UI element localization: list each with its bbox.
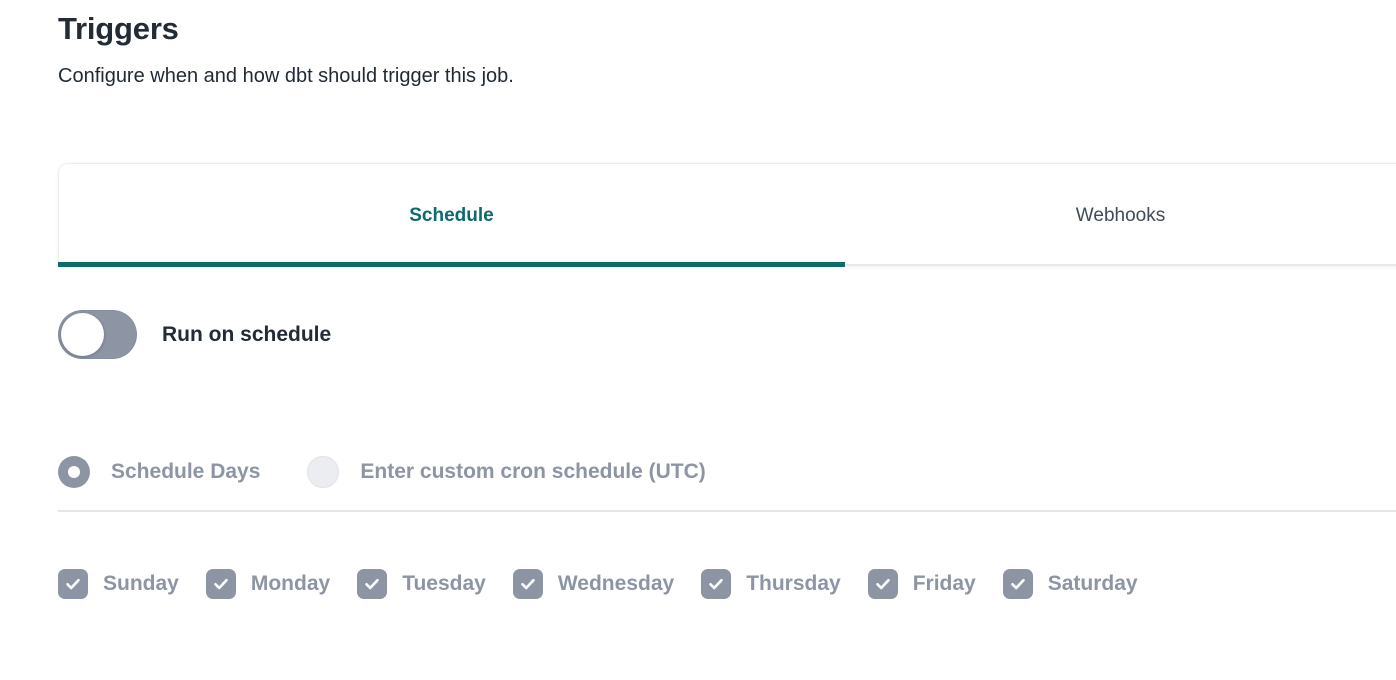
page-title: Triggers [58,10,1358,47]
checkmark-icon [1003,569,1033,599]
radio-unchecked-icon [307,456,339,488]
schedule-days-checkbox-group: Sunday Monday Tuesday Wednesday Thursday… [58,569,1138,599]
checkmark-icon [58,569,88,599]
day-item-friday[interactable]: Friday [868,569,976,599]
tab-active-underline [58,262,845,267]
day-item-thursday[interactable]: Thursday [701,569,841,599]
tab-webhooks[interactable]: Webhooks [845,206,1396,225]
checkmark-icon [513,569,543,599]
tab-inactive-underline [845,264,1396,266]
radio-option-custom-cron[interactable]: Enter custom cron schedule (UTC) [307,456,705,488]
day-item-wednesday[interactable]: Wednesday [513,569,674,599]
day-label: Monday [251,572,330,596]
day-item-sunday[interactable]: Sunday [58,569,179,599]
day-label: Saturday [1048,572,1138,596]
run-on-schedule-label: Run on schedule [162,323,331,347]
checkmark-icon [701,569,731,599]
tab-schedule[interactable]: Schedule [58,206,845,225]
checkmark-icon [868,569,898,599]
radio-label-custom-cron: Enter custom cron schedule (UTC) [360,460,705,484]
checkmark-icon [206,569,236,599]
schedule-mode-radio-group: Schedule Days Enter custom cron schedule… [58,456,706,488]
radio-checked-icon [58,456,90,488]
day-label: Sunday [103,572,179,596]
radio-option-schedule-days[interactable]: Schedule Days [58,456,260,488]
toggle-knob-icon [61,313,104,356]
day-label: Thursday [746,572,841,596]
trigger-tabs: Schedule Webhooks [58,163,1396,267]
page-subtitle: Configure when and how dbt should trigge… [58,63,1358,89]
section-divider [58,510,1396,512]
day-label: Tuesday [402,572,486,596]
day-item-saturday[interactable]: Saturday [1003,569,1138,599]
day-label: Wednesday [558,572,674,596]
day-item-tuesday[interactable]: Tuesday [357,569,486,599]
run-on-schedule-row: Run on schedule [58,310,331,359]
page-header: Triggers Configure when and how dbt shou… [58,10,1358,89]
run-on-schedule-toggle[interactable] [58,310,137,359]
day-item-monday[interactable]: Monday [206,569,330,599]
checkmark-icon [357,569,387,599]
radio-label-schedule-days: Schedule Days [111,460,260,484]
day-label: Friday [913,572,976,596]
